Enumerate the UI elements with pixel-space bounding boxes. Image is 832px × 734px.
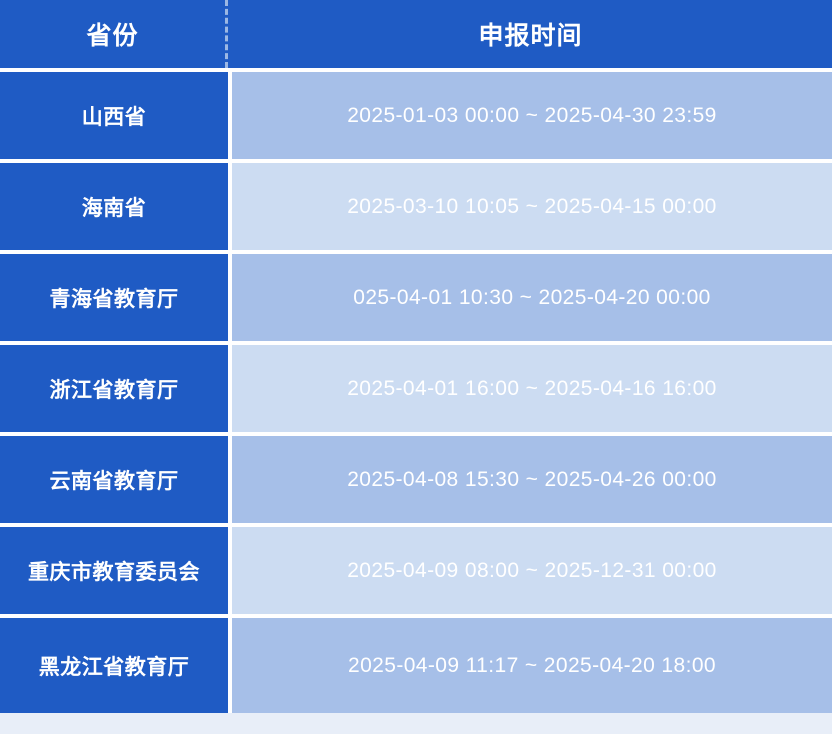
declaration-time-range: 2025-03-10 10:05 ~ 2025-04-15 00:00 — [347, 195, 717, 219]
province-name: 重庆市教育委员会 — [28, 556, 200, 586]
declaration-time-range: 2025-01-03 00:00 ~ 2025-04-30 23:59 — [347, 104, 717, 128]
declaration-schedule-table: 省份 申报时间 山西省2025-01-03 00:00 ~ 2025-04-30… — [0, 0, 832, 734]
declaration-time-range: 2025-04-08 15:30 ~ 2025-04-26 00:00 — [347, 468, 717, 492]
table-row: 浙江省教育厅 — [0, 345, 228, 436]
table-row: 2025-04-09 08:00 ~ 2025-12-31 00:00 — [228, 527, 832, 618]
table-row: 2025-04-09 11:17 ~ 2025-04-20 18:00 — [228, 618, 832, 713]
table-row: 云南省教育厅 — [0, 436, 228, 527]
column-header-declaration-time: 申报时间 — [228, 0, 832, 68]
province-name: 海南省 — [82, 192, 147, 222]
table-row: 黑龙江省教育厅 — [0, 618, 228, 713]
table-row: 青海省教育厅 — [0, 254, 228, 345]
province-name: 黑龙江省教育厅 — [39, 651, 190, 681]
table-row: 2025-03-10 10:05 ~ 2025-04-15 00:00 — [228, 163, 832, 254]
province-name: 山西省 — [82, 101, 147, 131]
table-row: 海南省 — [0, 163, 228, 254]
table-grid: 省份 申报时间 山西省2025-01-03 00:00 ~ 2025-04-30… — [0, 0, 832, 713]
province-name: 浙江省教育厅 — [50, 374, 179, 404]
table-row: 2025-04-01 16:00 ~ 2025-04-16 16:00 — [228, 345, 832, 436]
province-name: 青海省教育厅 — [50, 283, 179, 313]
table-row: 山西省 — [0, 72, 228, 163]
province-name: 云南省教育厅 — [50, 465, 179, 495]
table-row: 025-04-01 10:30 ~ 2025-04-20 00:00 — [228, 254, 832, 345]
declaration-time-range: 2025-04-09 11:17 ~ 2025-04-20 18:00 — [348, 654, 716, 678]
table-row: 2025-04-08 15:30 ~ 2025-04-26 00:00 — [228, 436, 832, 527]
column-header-province: 省份 — [0, 0, 228, 68]
table-row: 2025-01-03 00:00 ~ 2025-04-30 23:59 — [228, 72, 832, 163]
declaration-time-range: 025-04-01 10:30 ~ 2025-04-20 00:00 — [353, 286, 710, 310]
declaration-time-range: 2025-04-01 16:00 ~ 2025-04-16 16:00 — [347, 377, 717, 401]
declaration-time-range: 2025-04-09 08:00 ~ 2025-12-31 00:00 — [347, 559, 717, 583]
table-row: 重庆市教育委员会 — [0, 527, 228, 618]
